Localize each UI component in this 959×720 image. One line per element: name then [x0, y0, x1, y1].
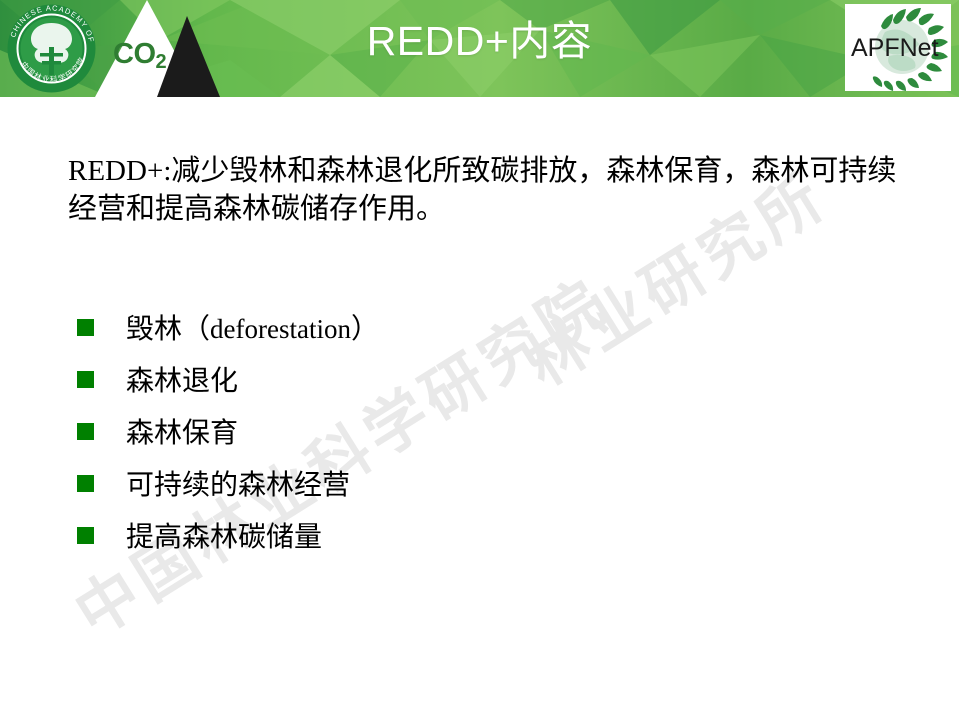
bullet-cjk: 提高森林碳储量 [126, 521, 322, 552]
bullet-latin: deforestation [210, 314, 351, 344]
bullet-label: 毁林（deforestation） [126, 313, 379, 344]
svg-text:APFNet: APFNet [851, 34, 939, 62]
bullet-cjk-tail: ） [351, 313, 379, 344]
slide-root: CHINESE ACADEMY OF FORESTRY 中国林业科学研究院 CO… [0, 0, 959, 720]
co2-wordmark: CO2 [113, 38, 185, 84]
bullet-square-icon [77, 423, 94, 440]
bullet-cjk: 毁林（ [126, 313, 210, 344]
slide-body: REDD+:减少毁林和森林退化所致碳排放，森林保育，森林可持续经营和提高森林碳储… [0, 97, 959, 720]
bullet-cjk: 森林退化 [126, 365, 238, 396]
list-item[interactable]: 毁林（deforestation） [68, 303, 908, 355]
bullet-square-icon [77, 319, 94, 336]
bullet-cjk: 可持续的森林经营 [126, 469, 350, 500]
bullet-list: 毁林（deforestation） 森林退化 森林保育 可持续的森林经营 提高森… [68, 303, 908, 563]
slide-header-banner: CHINESE ACADEMY OF FORESTRY 中国林业科学研究院 CO… [0, 0, 959, 97]
co2-subscript: 2 [156, 51, 167, 73]
chinese-academy-of-forestry-logo: CHINESE ACADEMY OF FORESTRY 中国林业科学研究院 [6, 3, 97, 94]
bullet-square-icon [77, 527, 94, 544]
lead-prefix-latin: REDD+ [68, 155, 163, 187]
bullet-label: 可持续的森林经营 [126, 469, 350, 500]
list-item[interactable]: 提高森林碳储量 [68, 511, 908, 563]
bullet-square-icon [77, 371, 94, 388]
list-item[interactable]: 森林退化 [68, 355, 908, 407]
bullet-label: 提高森林碳储量 [126, 521, 322, 552]
lead-paragraph: REDD+:减少毁林和森林退化所致碳排放，森林保育，森林可持续经营和提高森林碳储… [68, 152, 908, 228]
bullet-label: 森林退化 [126, 365, 238, 396]
apfnet-logo-graphic: APFNet [845, 4, 951, 91]
bullet-square-icon [77, 475, 94, 492]
bullet-cjk: 森林保育 [126, 417, 238, 448]
list-item[interactable]: 可持续的森林经营 [68, 459, 908, 511]
co2-main: CO [113, 38, 156, 70]
apfnet-logo-box: APFNet [845, 4, 951, 91]
lead-body-text: 减少毁林和森林退化所致碳排放，森林保育，森林可持续经营和提高森林碳储存作用。 [68, 155, 896, 225]
bullet-label: 森林保育 [126, 417, 238, 448]
list-item[interactable]: 森林保育 [68, 407, 908, 459]
